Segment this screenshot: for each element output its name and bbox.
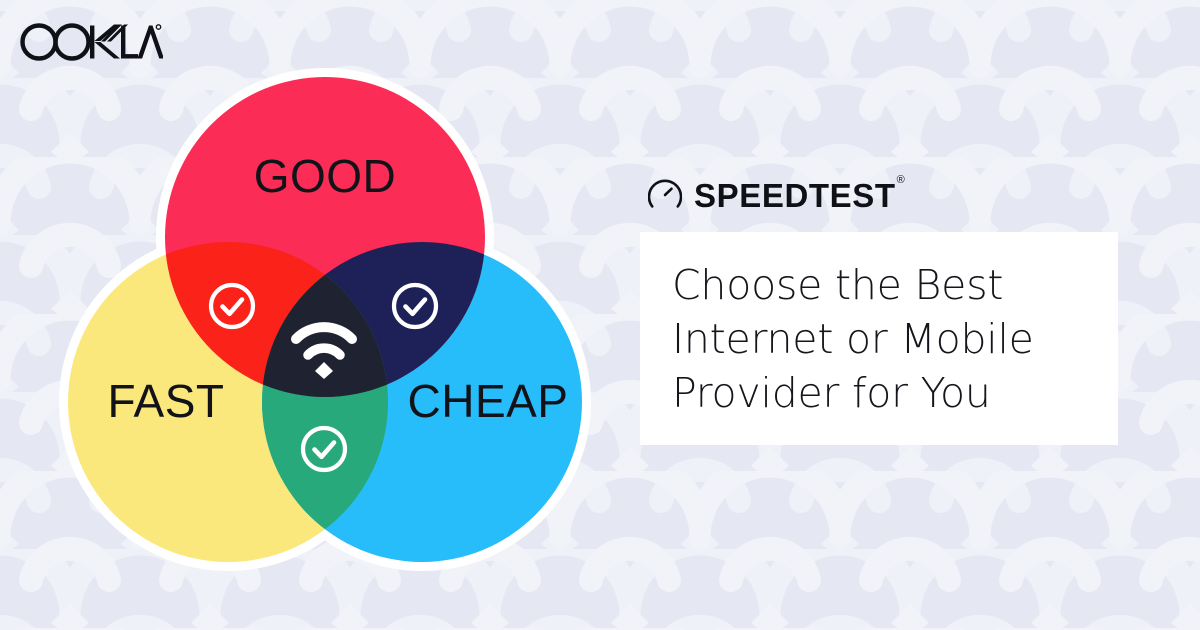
page-title: Choose the Best Internet or Mobile Provi… xyxy=(672,258,1088,420)
ookla-la xyxy=(121,26,163,59)
ookla-registered-mark xyxy=(156,25,160,29)
speedtest-wordmark-text: SPEEDTEST xyxy=(694,177,896,214)
ookla-logo[interactable] xyxy=(18,16,163,64)
headline-card: Choose the Best Internet or Mobile Provi… xyxy=(640,232,1118,445)
speedometer-gauge-icon xyxy=(648,178,682,212)
venn-label-fast: FAST xyxy=(107,375,224,427)
headline-line-2: Internet or Mobile xyxy=(672,312,1088,366)
headline-line-3: Provider for You xyxy=(672,366,1088,420)
headline-line-1: Choose the Best xyxy=(672,258,1088,312)
poster-canvas: GOOD FAST CHEAP SPEE xyxy=(0,0,1200,630)
speedtest-wordmark: SPEEDTEST® xyxy=(694,179,904,212)
venn-diagram: GOOD FAST CHEAP xyxy=(40,55,620,585)
speedtest-registered-mark: ® xyxy=(897,174,905,186)
venn-label-cheap: CHEAP xyxy=(408,375,569,427)
venn-label-good: GOOD xyxy=(254,150,397,202)
speedtest-logo[interactable]: SPEEDTEST® xyxy=(648,178,904,212)
ookla-wordmark xyxy=(23,26,89,59)
